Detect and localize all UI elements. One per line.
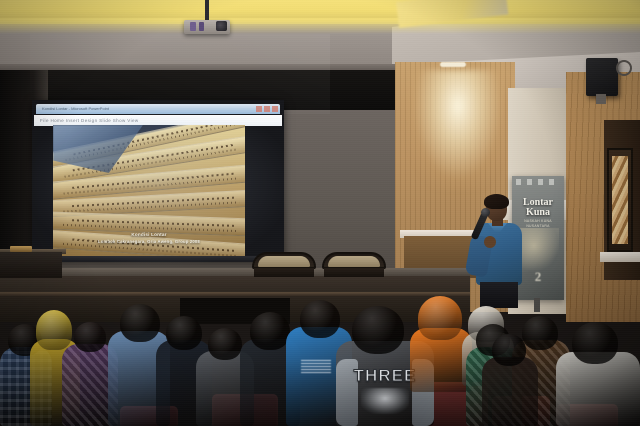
attendee-dark-right — [482, 334, 538, 426]
microphone-head-icon — [481, 208, 490, 217]
slide-caption-line2: Lombok Cakranegara, Gria Aweng, Group 20… — [53, 238, 245, 245]
wall-lamp-glow — [408, 70, 504, 190]
attendee-head — [208, 328, 242, 360]
table-item — [10, 246, 32, 252]
audience: THREE — [0, 276, 640, 426]
decorative-wall-frame-art — [612, 156, 628, 244]
wall-downlight — [440, 62, 466, 67]
attendee-head — [74, 322, 106, 352]
attendee-jacket-print — [301, 358, 331, 373]
slide-app-title-text: Kondisi Lontar - Microsoft PowerPoint — [42, 104, 162, 114]
stage-chair — [322, 252, 386, 278]
projector-knob-right — [199, 22, 204, 31]
presenter-hair — [484, 194, 509, 209]
seminar-photo-scene: Kondisi Lontar - Microsoft PowerPoint Fi… — [0, 0, 640, 426]
banner-sponsor-logos — [516, 179, 560, 185]
projection-screen-bottom-bar — [32, 256, 284, 262]
attendee-torso — [482, 357, 538, 426]
attendee-head — [572, 322, 618, 364]
attendee-head — [492, 334, 526, 366]
wall-speaker-icon — [586, 58, 618, 96]
attendee-head — [352, 306, 404, 354]
attendee-head — [300, 300, 340, 338]
attendee-head — [250, 312, 290, 350]
slide-caption-line1: Kondisi Lontar — [53, 231, 245, 238]
ceiling-cove-light-glow — [0, 18, 640, 34]
wall-speaker-mount-ring — [616, 60, 632, 76]
attendee-hijab — [418, 296, 462, 340]
presenter-hand — [484, 236, 496, 248]
stage-chair — [252, 252, 316, 278]
projector-mount-pole — [205, 0, 209, 22]
slide-app-window-buttons[interactable] — [256, 106, 278, 112]
attendee-head — [120, 304, 160, 342]
jacket-graphic — [361, 388, 408, 414]
slide-caption: Kondisi Lontar Lombok Cakranegara, Gria … — [53, 231, 245, 253]
decorative-wall-frame-base — [600, 252, 640, 262]
projector-knob-left — [190, 22, 196, 31]
presenter-table — [0, 252, 62, 278]
wall-speaker-bracket — [596, 94, 606, 104]
projector-lens-icon — [216, 21, 227, 31]
attendee-white-shirt — [556, 322, 640, 426]
